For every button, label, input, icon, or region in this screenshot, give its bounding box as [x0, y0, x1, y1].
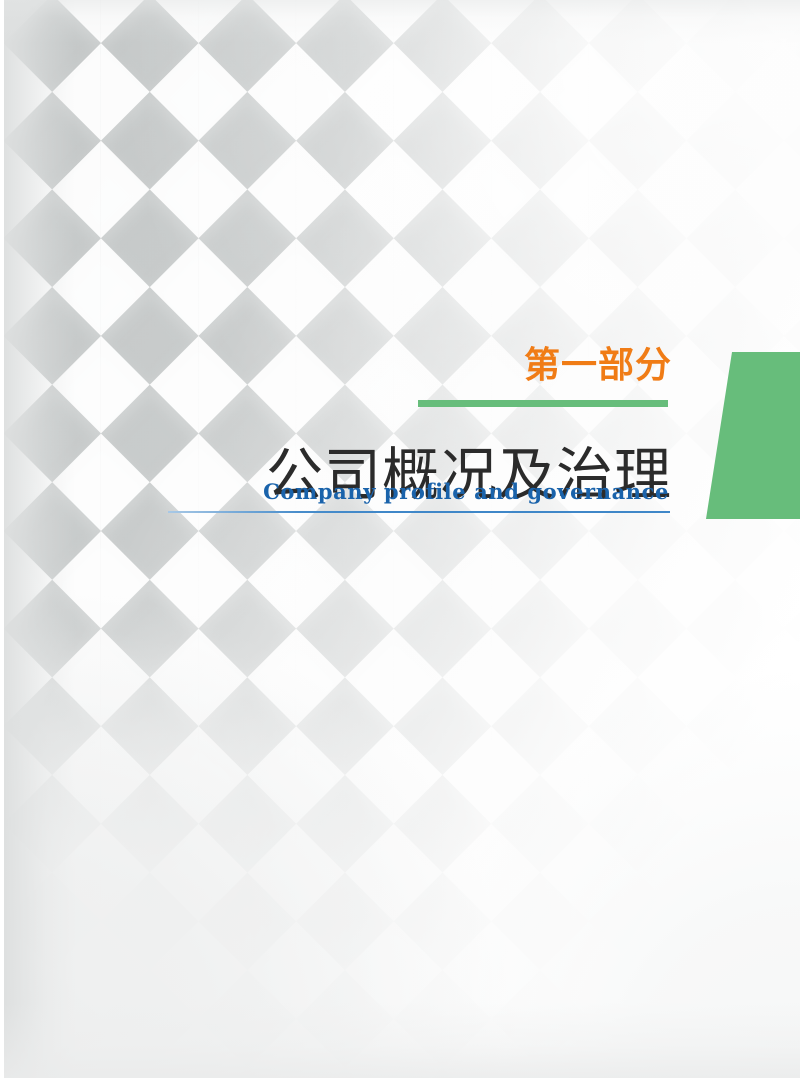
green-divider-rule	[418, 400, 668, 407]
section-title-english: Company profile and governance	[263, 481, 669, 502]
section-kicker: 第一部分	[524, 348, 672, 384]
blue-underline-rule	[168, 511, 670, 513]
background-artwork	[4, 0, 800, 1078]
background-highlight-bottom-left	[4, 0, 800, 1078]
section-divider-page: 第一部分 公司概况及治理 Company profile and governa…	[0, 0, 800, 1086]
